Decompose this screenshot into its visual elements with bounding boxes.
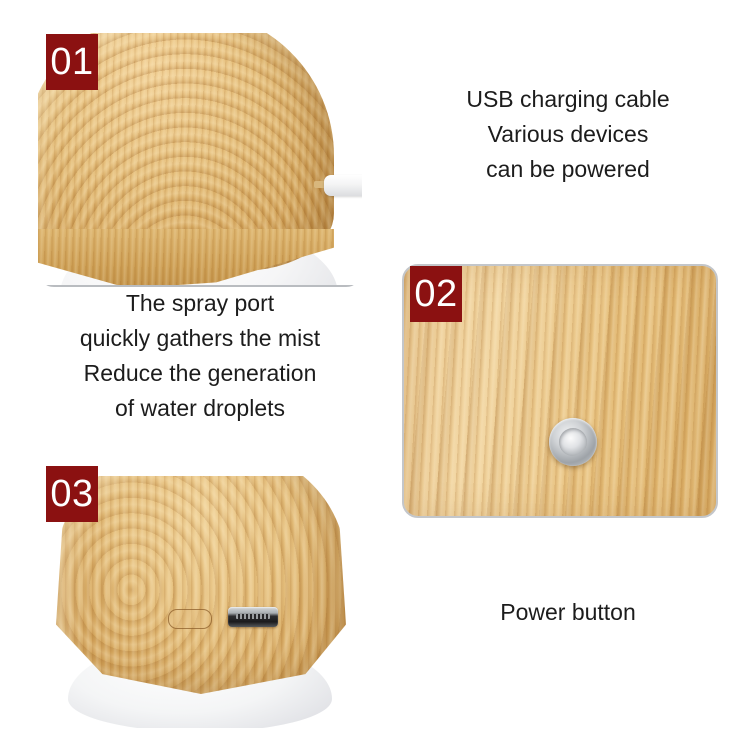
panel-02-caption: Power button	[398, 595, 738, 630]
humidifier-wood-body	[56, 476, 346, 694]
callout-line: USB charging cable	[398, 82, 738, 117]
power-button-icon	[549, 418, 597, 466]
panel-03-badge-label: 03	[50, 473, 93, 516]
panel-02-badge: 02	[410, 266, 462, 322]
panel-02-badge-label: 02	[414, 273, 457, 316]
caption-line: Power button	[398, 595, 738, 630]
panel-01-badge-label: 01	[50, 41, 93, 84]
caption-line: The spray port	[14, 286, 386, 321]
panel-03-badge: 03	[46, 466, 98, 522]
callout-line: can be powered	[398, 152, 738, 187]
panel-01-badge: 01	[46, 34, 98, 90]
caption-line: of water droplets	[14, 391, 386, 426]
usb-connector-icon	[324, 175, 362, 196]
micro-usb-port-icon	[228, 607, 278, 627]
switch-slot-icon	[168, 609, 212, 629]
infographic-canvas: 01 The spray port quickly gathers the mi…	[0, 0, 750, 750]
caption-line: Reduce the generation	[14, 356, 386, 391]
callout-line: Various devices	[398, 117, 738, 152]
usb-callout-text: USB charging cable Various devices can b…	[398, 82, 738, 187]
caption-line: quickly gathers the mist	[14, 321, 386, 356]
panel-01-caption: The spray port quickly gathers the mist …	[14, 286, 386, 426]
